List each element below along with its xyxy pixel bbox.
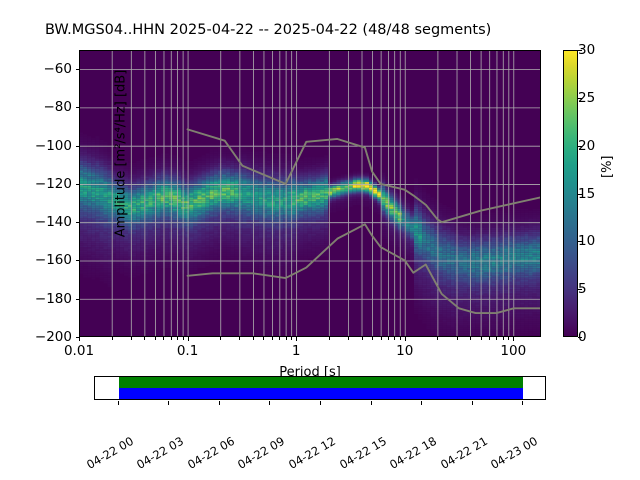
- x-tick-mark: [79, 337, 80, 341]
- psd-coverage: [119, 388, 524, 399]
- data-coverage: [119, 377, 524, 388]
- y-tick-label: −120: [35, 176, 72, 192]
- coverage-tick-mark: [472, 401, 473, 405]
- colorbar-tick-mark: [578, 337, 582, 338]
- colorbar-label: [%]: [600, 118, 615, 178]
- coverage-tick-label: 04-22 21: [438, 434, 490, 472]
- y-tick-label: −60: [44, 61, 73, 77]
- x-minor-tick-mark: [253, 337, 254, 340]
- y-tick-label: −100: [35, 138, 72, 154]
- x-tick-mark: [405, 337, 406, 341]
- x-minor-tick-mark: [286, 337, 287, 340]
- coverage-axes: [94, 376, 546, 400]
- x-minor-tick-mark: [131, 337, 132, 340]
- coverage-tick-mark: [371, 401, 372, 405]
- y-tick-mark: [76, 260, 80, 261]
- colorbar-tick-mark: [578, 98, 582, 99]
- coverage-tick-mark: [522, 401, 523, 405]
- x-minor-tick-mark: [239, 337, 240, 340]
- x-minor-tick-mark: [400, 337, 401, 340]
- x-minor-tick-mark: [155, 337, 156, 340]
- coverage-tick-label: 04-23 00: [489, 434, 541, 472]
- x-minor-tick-mark: [272, 337, 273, 340]
- x-minor-tick-mark: [489, 337, 490, 340]
- y-tick-label: −140: [35, 214, 72, 230]
- y-tick-mark: [76, 222, 80, 223]
- y-tick-label: −160: [35, 252, 72, 268]
- x-minor-tick-mark: [362, 337, 363, 340]
- coverage-tick-label: 04-22 18: [387, 434, 439, 472]
- x-minor-tick-mark: [457, 337, 458, 340]
- x-tick-mark: [296, 337, 297, 341]
- x-minor-tick-mark: [481, 337, 482, 340]
- colorbar-tick-mark: [578, 241, 582, 242]
- x-minor-tick-mark: [112, 337, 113, 340]
- x-minor-tick-mark: [381, 337, 382, 340]
- colorbar-tick-mark: [578, 50, 582, 51]
- x-minor-tick-mark: [171, 337, 172, 340]
- coverage-tick-label: 04-22 12: [286, 434, 338, 472]
- y-tick-label: −80: [44, 99, 73, 115]
- x-minor-tick-mark: [163, 337, 164, 340]
- x-minor-tick-mark: [503, 337, 504, 340]
- colorbar-tick-mark: [578, 146, 582, 147]
- x-tick-label: 0.01: [64, 343, 94, 359]
- x-minor-tick-mark: [177, 337, 178, 340]
- x-minor-tick-mark: [279, 337, 280, 340]
- x-minor-tick-mark: [496, 337, 497, 340]
- x-minor-tick-mark: [437, 337, 438, 340]
- x-minor-tick-mark: [348, 337, 349, 340]
- x-minor-tick-mark: [394, 337, 395, 340]
- coverage-tick-mark: [269, 401, 270, 405]
- colorbar-gradient: [564, 51, 577, 336]
- plot-title: BW.MGS04..HHN 2025-04-22 -- 2025-04-22 (…: [45, 22, 595, 42]
- ppsd-figure: BW.MGS04..HHN 2025-04-22 -- 2025-04-22 (…: [0, 0, 640, 480]
- x-tick-mark: [513, 337, 514, 341]
- ppsd-histogram-canvas: [79, 50, 541, 337]
- x-minor-tick-mark: [183, 337, 184, 340]
- y-axis-label: Amplitude [m²/s⁴/Hz] [dB]: [114, 54, 129, 254]
- x-minor-tick-mark: [220, 337, 221, 340]
- coverage-tick-mark: [118, 401, 119, 405]
- x-minor-tick-mark: [470, 337, 471, 340]
- x-minor-tick-mark: [508, 337, 509, 340]
- coverage-tick-label: 04-22 15: [337, 434, 389, 472]
- coverage-tick-label: 04-22 03: [134, 434, 186, 472]
- colorbar: [563, 50, 578, 337]
- x-minor-tick-mark: [388, 337, 389, 340]
- coverage-tick-mark: [421, 401, 422, 405]
- x-tick-label: 1: [292, 343, 301, 359]
- coverage-tick-mark: [219, 401, 220, 405]
- x-minor-tick-mark: [291, 337, 292, 340]
- coverage-tick-label: 04-22 06: [185, 434, 237, 472]
- x-tick-label: 0.1: [177, 343, 198, 359]
- x-minor-tick-mark: [144, 337, 145, 340]
- colorbar-tick-mark: [578, 194, 582, 195]
- coverage-tick-mark: [168, 401, 169, 405]
- x-tick-mark: [188, 337, 189, 341]
- coverage-tick-label: 04-22 09: [236, 434, 288, 472]
- x-minor-tick-mark: [372, 337, 373, 340]
- y-tick-mark: [76, 184, 80, 185]
- coverage-tick-label: 04-22 00: [84, 434, 136, 472]
- x-minor-tick-mark: [329, 337, 330, 340]
- y-tick-mark: [76, 146, 80, 147]
- y-tick-label: −180: [35, 291, 72, 307]
- y-tick-mark: [76, 299, 80, 300]
- x-tick-label: 10: [396, 343, 413, 359]
- y-tick-mark: [76, 107, 80, 108]
- colorbar-tick-mark: [578, 289, 582, 290]
- x-tick-label: 100: [500, 343, 526, 359]
- ppsd-axes: Amplitude [m²/s⁴/Hz] [dB] Period [s] −60…: [79, 50, 541, 337]
- y-tick-mark: [76, 69, 80, 70]
- coverage-tick-mark: [320, 401, 321, 405]
- x-minor-tick-mark: [263, 337, 264, 340]
